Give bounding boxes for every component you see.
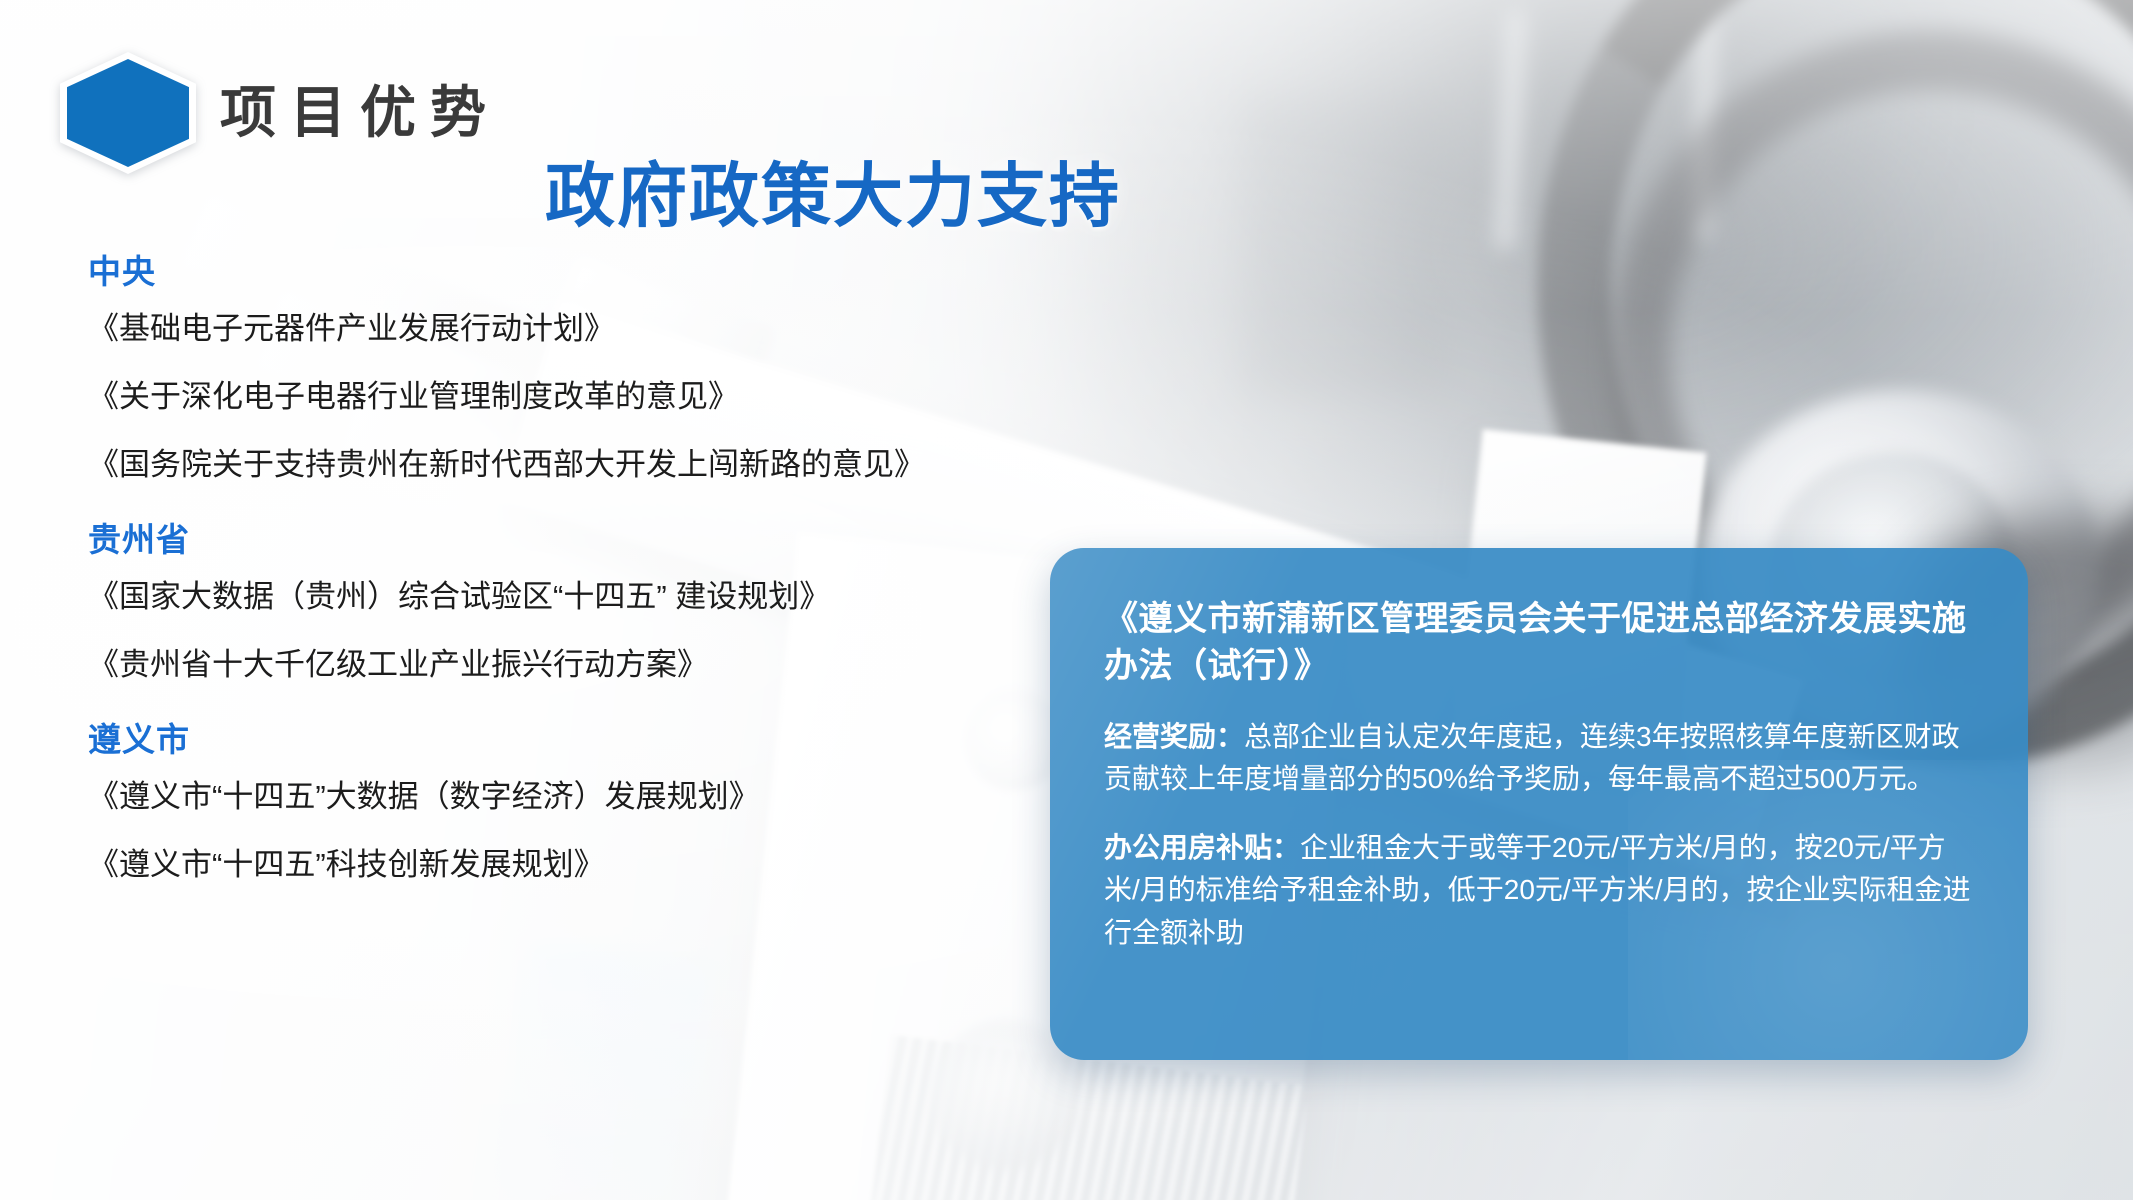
policy-item: 《国家大数据（贵州）综合试验区“十四五” 建设规划》 — [88, 575, 968, 619]
slide-content: 项目优势 政府政策大力支持 中央 《基础电子元器件产业发展行动计划》 《关于深化… — [0, 0, 2133, 1200]
policy-list: 中央 《基础电子元器件产业发展行动计划》 《关于深化电子电器行业管理制度改革的意… — [88, 245, 968, 891]
policy-group-guizhou: 贵州省 《国家大数据（贵州）综合试验区“十四五” 建设规划》 《贵州省十大千亿级… — [88, 513, 968, 687]
card-paragraph-office-subsidy: 办公用房补贴：企业租金大于或等于20元/平方米/月的，按20元/平方米/月的标准… — [1104, 827, 1980, 955]
section-badge: 项目优势 — [60, 52, 500, 174]
policy-group-central: 中央 《基础电子元器件产业发展行动计划》 《关于深化电子电器行业管理制度改革的意… — [88, 245, 968, 487]
page-title: 政府政策大力支持 — [545, 140, 1121, 241]
policy-group-heading: 遵义市 — [88, 713, 968, 761]
policy-highlight-card: 《遵义市新蒲新区管理委员会关于促进总部经济发展实施办法（试行）》 经营奖励：总部… — [1050, 548, 2028, 1060]
policy-item: 《贵州省十大千亿级工业产业振兴行动方案》 — [88, 643, 968, 687]
policy-group-zunyi: 遵义市 《遵义市“十四五”大数据（数字经济）发展规划》 《遵义市“十四五”科技创… — [88, 713, 968, 887]
section-badge-label: 项目优势 — [220, 85, 500, 141]
card-paragraph-label: 经营奖励： — [1104, 721, 1244, 752]
policy-item: 《遵义市“十四五”科技创新发展规划》 — [88, 843, 968, 887]
slide-root: 项目优势 政府政策大力支持 中央 《基础电子元器件产业发展行动计划》 《关于深化… — [0, 0, 2133, 1200]
policy-item: 《关于深化电子电器行业管理制度改革的意见》 — [88, 375, 968, 419]
card-title: 《遵义市新蒲新区管理委员会关于促进总部经济发展实施办法（试行）》 — [1104, 596, 1980, 690]
policy-item: 《基础电子元器件产业发展行动计划》 — [88, 307, 968, 351]
policy-item: 《遵义市“十四五”大数据（数字经济）发展规划》 — [88, 775, 968, 819]
hexagon-icon — [60, 52, 196, 174]
policy-group-heading: 中央 — [88, 245, 968, 293]
card-paragraph-label: 办公用房补贴： — [1104, 832, 1300, 863]
policy-item: 《国务院关于支持贵州在新时代西部大开发上闯新路的意见》 — [88, 443, 968, 487]
card-paragraph-operating-award: 经营奖励：总部企业自认定次年度起，连续3年按照核算年度新区财政贡献较上年度增量部… — [1104, 716, 1980, 801]
policy-group-heading: 贵州省 — [88, 513, 968, 561]
